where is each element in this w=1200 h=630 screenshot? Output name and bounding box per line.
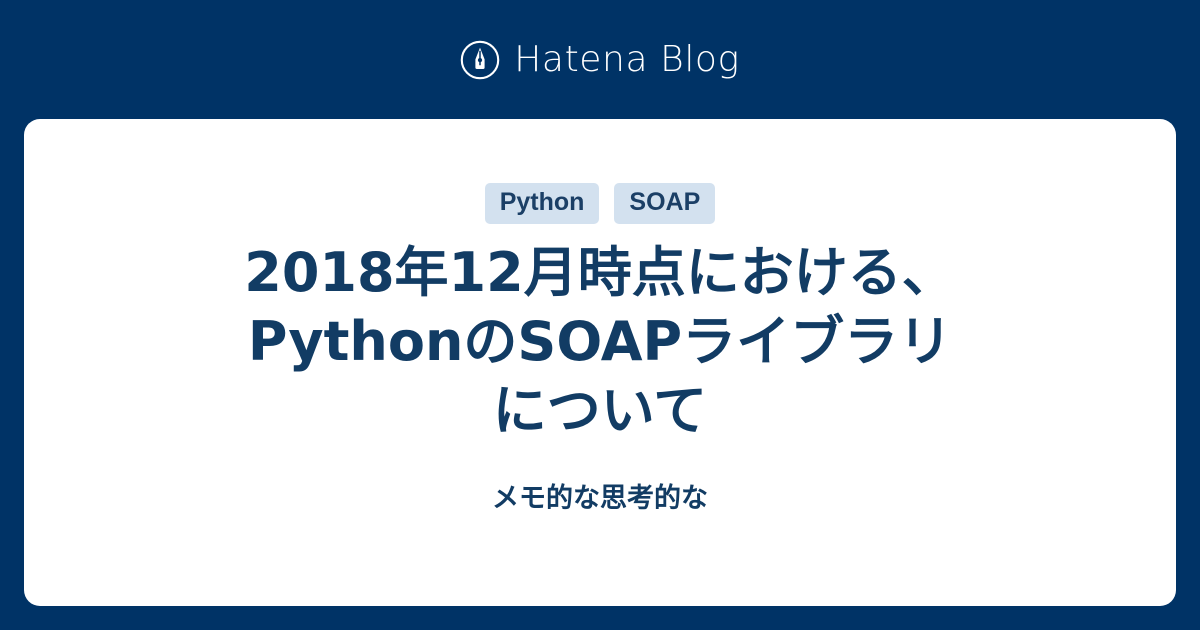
ogp-canvas: Hatena Blog Python SOAP 2018年12月時点における、P…: [0, 0, 1200, 630]
site-header: Hatena Blog: [0, 0, 1200, 119]
tag-soap[interactable]: SOAP: [614, 183, 715, 224]
hatena-blog-wordmark: Hatena Blog: [514, 42, 740, 78]
tag-list: Python SOAP: [485, 183, 716, 224]
entry-title[interactable]: 2018年12月時点における、PythonのSOAPライブラリについて: [225, 238, 975, 445]
tag-python[interactable]: Python: [485, 183, 600, 224]
blog-name[interactable]: メモ的な思考的な: [492, 483, 708, 515]
hatena-logo-mark: [460, 40, 500, 80]
entry-card: Python SOAP 2018年12月時点における、PythonのSOAPライ…: [24, 119, 1176, 606]
